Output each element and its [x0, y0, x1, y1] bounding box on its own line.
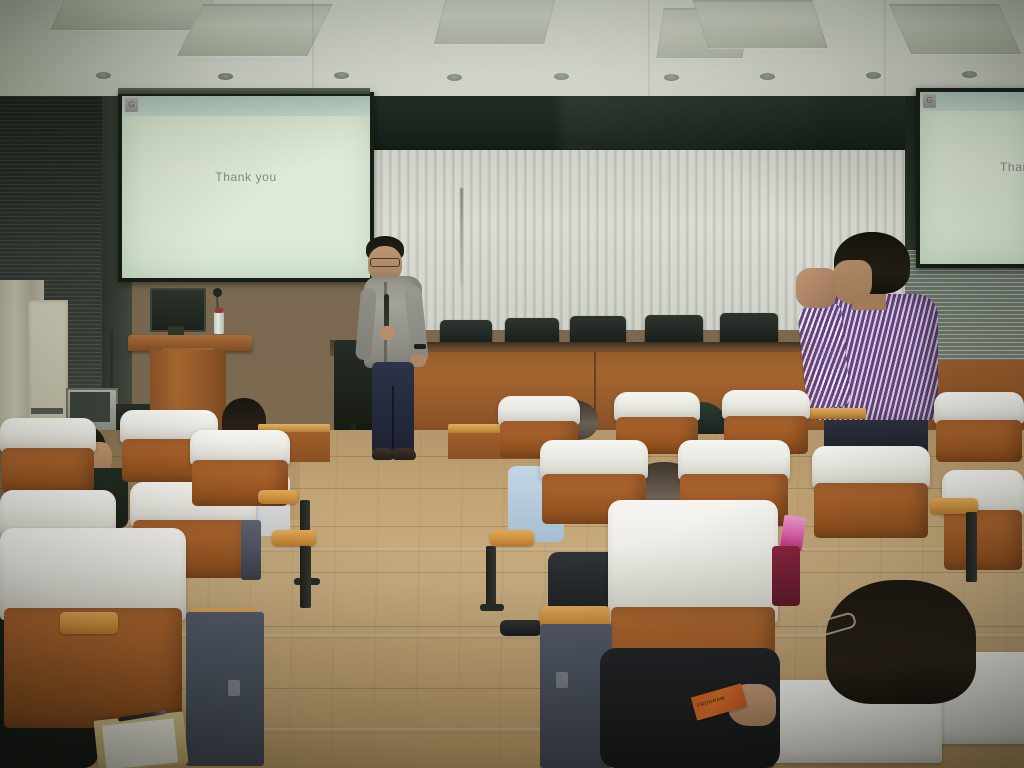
presenter-shoe — [372, 448, 394, 460]
screen-top-band — [122, 96, 370, 116]
seated-person-right-red-sleeve — [772, 546, 800, 606]
wall-stain — [460, 188, 463, 286]
screen-badge-icon: G — [125, 98, 138, 112]
notebook-page — [102, 718, 178, 768]
clapper-clapping-hands — [796, 268, 836, 308]
monitor-stand — [168, 326, 184, 335]
seat-back — [936, 420, 1022, 462]
auditorium-seat — [942, 470, 1024, 570]
seat-back — [944, 510, 1023, 570]
presenter-speaker — [358, 236, 430, 462]
auditorium-seat — [812, 446, 930, 538]
board-tray — [31, 408, 63, 414]
seated-person-foreground-glasses-head — [826, 580, 976, 704]
auditorium-seat — [0, 418, 96, 492]
standing-audience-member — [796, 232, 940, 462]
seat-side-panel — [241, 520, 261, 580]
seated-person-shoe — [500, 620, 542, 636]
seat-side-panel — [186, 612, 264, 766]
seat-armrest — [272, 530, 316, 546]
seat-leg — [300, 546, 311, 608]
seat-side-logo-icon — [228, 680, 240, 696]
seat-back — [814, 483, 927, 538]
seat-cover — [812, 446, 930, 488]
screen-badge-icon: G — [923, 94, 936, 108]
seat-leg — [486, 546, 496, 608]
seat-cover — [0, 418, 96, 452]
screen-top-rail — [118, 88, 370, 94]
seat-side-logo-icon — [556, 672, 568, 688]
seat-foot — [480, 604, 504, 611]
auditorium-seat — [934, 392, 1024, 462]
presenter-left-hand — [380, 326, 395, 340]
seat-leg — [966, 512, 977, 582]
presenter-leg-split — [392, 386, 394, 448]
presenter-wristwatch — [414, 344, 426, 349]
seat-armrest — [60, 612, 118, 634]
seat-cover — [0, 528, 186, 620]
main-projector-screen: G Thank you — [118, 92, 374, 282]
screen-valance-box — [372, 96, 912, 154]
secondary-slide-text: Thank — [1000, 160, 1024, 174]
seat-cover — [540, 440, 648, 479]
seat-cover — [608, 500, 778, 623]
main-screen-surface: G Thank you — [122, 96, 370, 278]
presenter-glasses-icon — [370, 258, 400, 267]
clapper-face — [832, 260, 872, 304]
seat-armrest — [258, 490, 298, 504]
water-bottle — [214, 312, 224, 334]
seat-armrest — [490, 530, 534, 546]
seat-back — [2, 448, 94, 492]
booklet-text: PROGRAM — [696, 695, 725, 709]
bottle-cap — [215, 308, 223, 313]
main-slide-text: Thank you — [122, 170, 370, 184]
presenter-shoe — [392, 448, 416, 460]
lecture-hall-photo: G Thank you G Thank — [0, 0, 1024, 768]
gooseneck-mic-head-icon — [213, 288, 222, 297]
